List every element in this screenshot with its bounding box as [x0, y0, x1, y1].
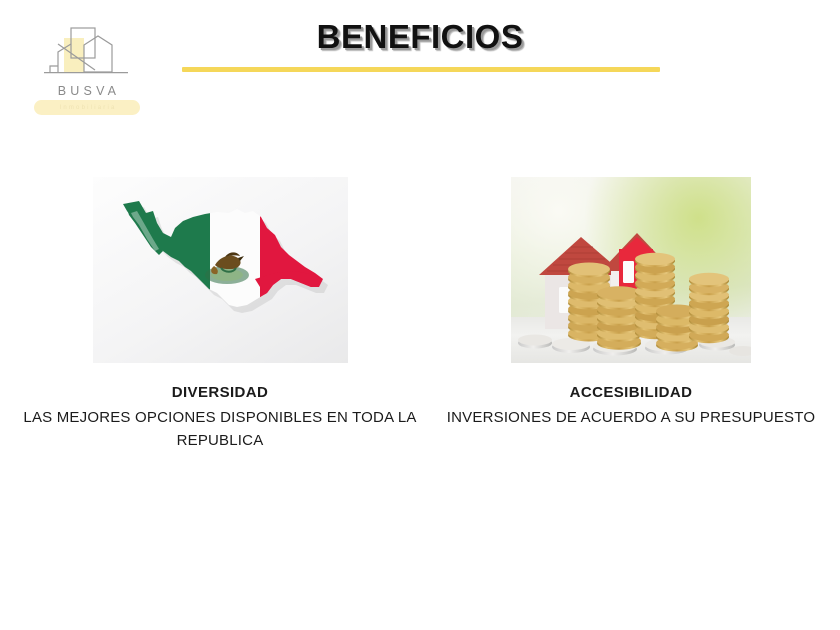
- page-title: BENEFICIOS: [0, 18, 840, 56]
- coin-stacks-icon: [511, 177, 751, 363]
- benefit-title: ACCESIBILIDAD: [440, 384, 822, 401]
- brand-subtitle: Inmobiliaria: [57, 105, 116, 111]
- benefit-body: INVERSIONES DE ACUERDO A SU PRESUPUESTO: [440, 406, 822, 429]
- mexico-map-shape: [105, 195, 336, 347]
- benefit-body: LAS MEJORES OPCIONES DISPONIBLES EN TODA…: [18, 406, 422, 453]
- benefit-card-accesibilidad: ACCESIBILIDAD INVERSIONES DE ACUERDO A S…: [440, 177, 822, 429]
- house-and-coins-image: [511, 177, 751, 363]
- brand-subtitle-pill: Inmobiliaria: [34, 100, 140, 115]
- mexico-map-flag-image: [93, 177, 348, 363]
- benefit-card-diversidad: DIVERSIDAD LAS MEJORES OPCIONES DISPONIB…: [18, 177, 422, 453]
- benefit-title: DIVERSIDAD: [18, 384, 422, 401]
- brand-name: BUSVA: [28, 84, 146, 98]
- title-divider: [182, 67, 660, 72]
